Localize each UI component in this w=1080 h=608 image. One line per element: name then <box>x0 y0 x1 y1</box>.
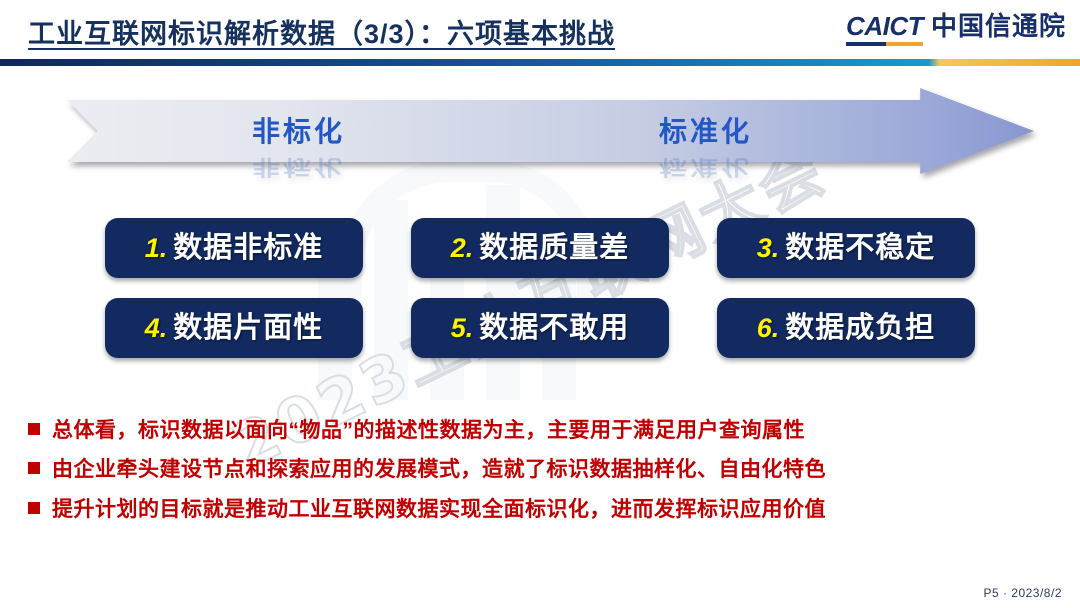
arrow-shape <box>44 88 1034 174</box>
slide-footer: P5 · 2023/8/2 <box>983 586 1062 600</box>
challenge-chip-6[interactable]: 6. 数据成负担 <box>717 298 975 358</box>
challenge-number: 1. <box>145 235 168 262</box>
progress-arrow-banner: 非标化 标准化 非标化 标准化 <box>44 88 1034 174</box>
challenge-label: 数据成负担 <box>785 314 935 343</box>
challenge-grid: 1. 数据非标准 2. 数据质量差 3. 数据不稳定 4. 数据片面性 5. 数… <box>0 218 1080 378</box>
caict-logo-mark: CAICT <box>846 13 923 46</box>
challenge-number: 4. <box>145 315 168 342</box>
challenge-row-1: 1. 数据非标准 2. 数据质量差 3. 数据不稳定 <box>0 218 1080 278</box>
challenge-label: 数据不稳定 <box>785 234 935 263</box>
bullet-item: 由企业牵头建设节点和探索应用的发展模式，造就了标识数据抽样化、自由化特色 <box>28 457 1058 483</box>
page-title: 工业互联网标识解析数据（3/3）：六项基本挑战 <box>28 12 615 51</box>
arrow-label-left: 非标化 <box>252 110 345 150</box>
challenge-number: 6. <box>757 315 780 342</box>
arrow-label-left-reflection: 非标化 <box>252 153 345 183</box>
caict-logo: CAICT 中国信通院 <box>846 13 1066 46</box>
challenge-label: 数据片面性 <box>173 314 323 343</box>
square-bullet-icon <box>28 423 40 435</box>
challenge-chip-5[interactable]: 5. 数据不敢用 <box>411 298 669 358</box>
challenge-number: 5. <box>451 315 474 342</box>
challenge-label: 数据不敢用 <box>479 314 629 343</box>
challenge-label: 数据质量差 <box>479 234 629 263</box>
challenge-row-2: 4. 数据片面性 5. 数据不敢用 6. 数据成负担 <box>0 298 1080 358</box>
square-bullet-icon <box>28 502 40 514</box>
summary-bullet-list: 总体看，标识数据以面向“物品”的描述性数据为主，主要用于满足用户查询属性 由企业… <box>28 418 1058 536</box>
challenge-chip-3[interactable]: 3. 数据不稳定 <box>717 218 975 278</box>
challenge-label: 数据非标准 <box>173 234 323 263</box>
challenge-chip-4[interactable]: 4. 数据片面性 <box>105 298 363 358</box>
challenge-number: 2. <box>451 235 474 262</box>
bullet-text: 提升计划的目标就是推动工业互联网数据实现全面标识化，进而发挥标识应用价值 <box>52 497 826 523</box>
challenge-number: 3. <box>757 235 780 262</box>
challenge-chip-2[interactable]: 2. 数据质量差 <box>411 218 669 278</box>
bullet-item: 总体看，标识数据以面向“物品”的描述性数据为主，主要用于满足用户查询属性 <box>28 418 1058 444</box>
header-divider <box>0 59 1080 66</box>
bullet-text: 由企业牵头建设节点和探索应用的发展模式，造就了标识数据抽样化、自由化特色 <box>52 457 826 483</box>
caict-logo-chinese: 中国信通院 <box>931 13 1066 46</box>
bullet-text: 总体看，标识数据以面向“物品”的描述性数据为主，主要用于满足用户查询属性 <box>52 418 805 444</box>
bullet-item: 提升计划的目标就是推动工业互联网数据实现全面标识化，进而发挥标识应用价值 <box>28 497 1058 523</box>
slide-canvas: 2023工业互联网大会 工业互联网标识解析数据（3/3）：六项基本挑战 CAIC… <box>0 0 1080 608</box>
arrow-label-right: 标准化 <box>659 110 752 150</box>
square-bullet-icon <box>28 462 40 474</box>
challenge-chip-1[interactable]: 1. 数据非标准 <box>105 218 363 278</box>
arrow-label-right-reflection: 标准化 <box>659 153 752 183</box>
